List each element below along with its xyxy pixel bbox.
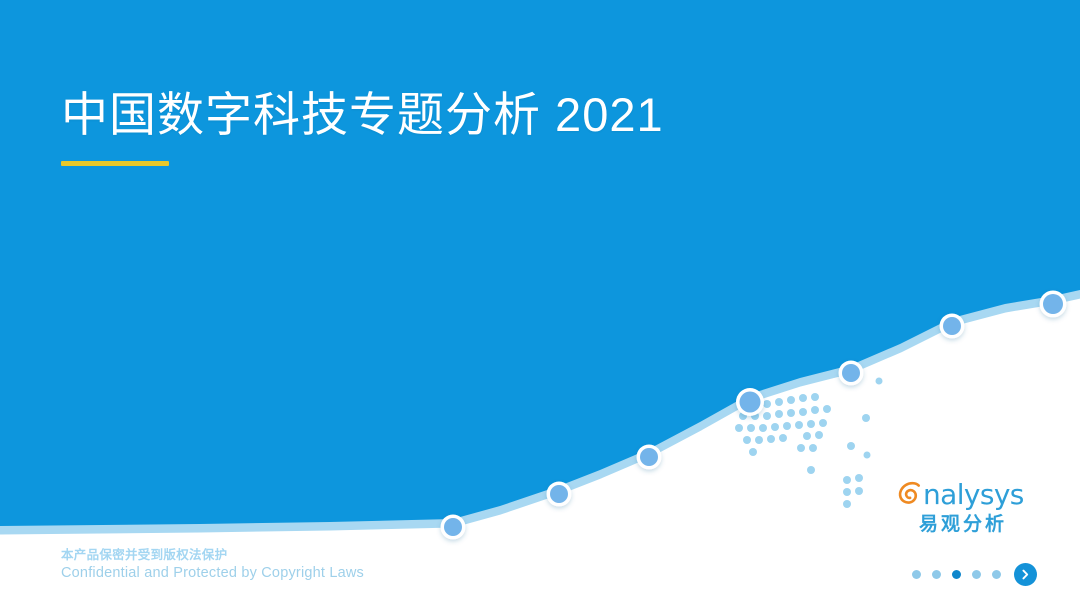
logo-wordmark-text: nalysys bbox=[923, 480, 1024, 510]
chart-marker bbox=[842, 364, 860, 382]
copyright-notice-cn: 本产品保密并受到版权法保护 bbox=[61, 547, 364, 564]
chart-marker bbox=[1043, 294, 1063, 314]
pagination-dot-4[interactable] bbox=[972, 570, 981, 579]
analysys-logo: nalysys 易观分析 bbox=[896, 478, 1024, 537]
next-slide-button[interactable] bbox=[1014, 563, 1037, 586]
copyright-footer: 本产品保密并受到版权法保护 Confidential and Protected… bbox=[61, 547, 364, 583]
pagination-dot-2[interactable] bbox=[932, 570, 941, 579]
pagination-dot-3[interactable] bbox=[952, 570, 961, 579]
logo-chinese-name: 易观分析 bbox=[896, 513, 1024, 537]
copyright-notice-en: Confidential and Protected by Copyright … bbox=[61, 564, 364, 583]
chart-marker bbox=[640, 448, 658, 466]
chevron-right-icon bbox=[1020, 569, 1031, 580]
logo-wordmark: nalysys bbox=[896, 478, 1024, 512]
analysys-a-swirl-icon bbox=[896, 480, 925, 510]
chart-marker bbox=[943, 317, 961, 335]
page-title: 中国数字科技专题分析 2021 bbox=[61, 86, 961, 145]
pagination-dot-5[interactable] bbox=[992, 570, 1001, 579]
presentation-slide: 中国数字科技专题分析 2021 本产品保密并受到版权法保护 Confidenti… bbox=[0, 0, 1080, 608]
title-underline-rule bbox=[61, 161, 169, 166]
chart-marker bbox=[444, 518, 462, 536]
title-block: 中国数字科技专题分析 2021 bbox=[61, 86, 961, 166]
chart-marker bbox=[550, 485, 568, 503]
chart-marker bbox=[740, 392, 761, 413]
pagination-dot-1[interactable] bbox=[912, 570, 921, 579]
slide-pagination[interactable] bbox=[912, 563, 1037, 586]
